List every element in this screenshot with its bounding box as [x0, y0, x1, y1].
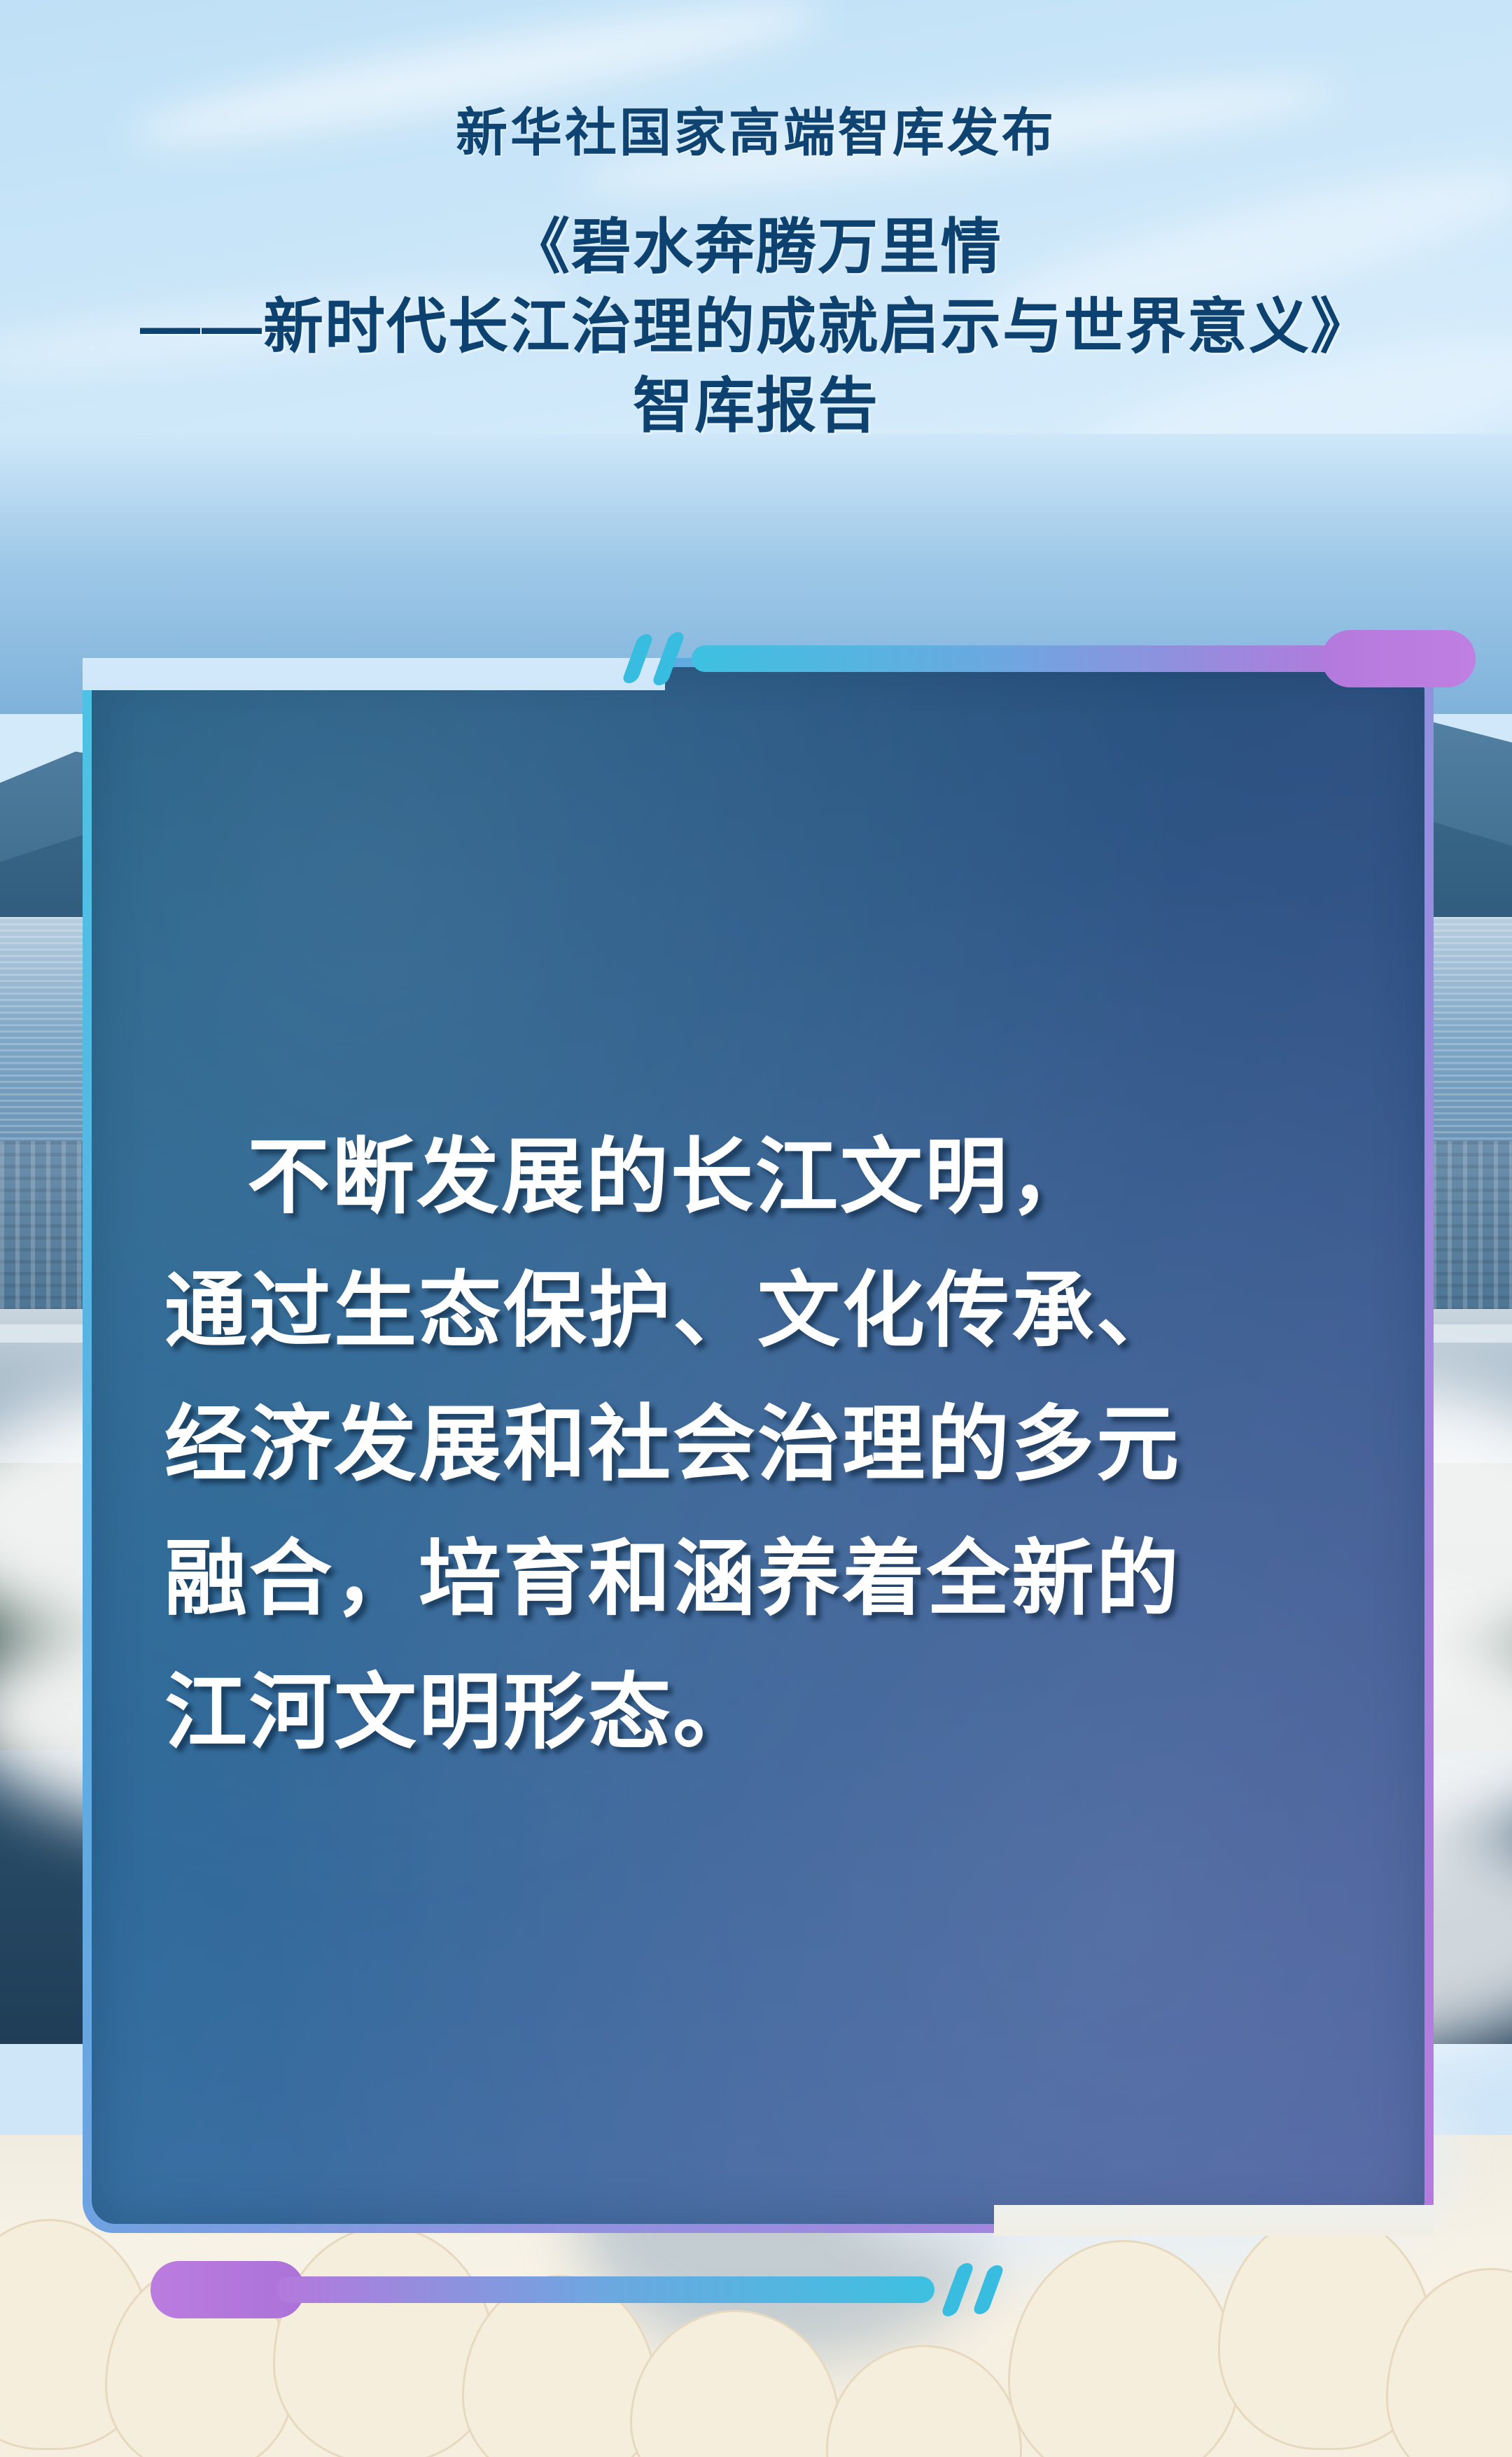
card-gradient-border: 不断发展的长江文明， 通过生态保护、文化传承、 经济发展和社会治理的多元 融合，… — [83, 658, 1434, 2233]
report-title: 《碧水奔腾万里情 ——新时代长江治理的成就启示与世界意义》 智库报告 — [0, 208, 1512, 447]
gradient-rod — [276, 2276, 934, 2303]
quote-card: 不断发展的长江文明， 通过生态保护、文化传承、 经济发展和社会治理的多元 融合，… — [83, 658, 1434, 2233]
quote-text-block: 不断发展的长江文明， 通过生态保护、文化传承、 经济发展和社会治理的多元 融合，… — [92, 667, 1424, 2224]
title-line-1: 《碧水奔腾万里情 — [0, 208, 1512, 288]
title-line-2: ——新时代长江治理的成就启示与世界意义》 — [0, 288, 1512, 367]
publisher-kicker: 新华社国家高端智库发布 — [0, 91, 1512, 166]
quote-line-2: 通过生态保护、文化传承、 — [164, 1245, 1352, 1378]
card-surface: 不断发展的长江文明， 通过生态保护、文化传承、 经济发展和社会治理的多元 融合，… — [92, 667, 1424, 2224]
gradient-rod — [692, 645, 1350, 672]
poster-header: 新华社国家高端智库发布 《碧水奔腾万里情 ——新时代长江治理的成就启示与世界意义… — [0, 0, 1512, 447]
quote-line-4: 融合，培育和涵养着全新的 — [164, 1513, 1352, 1646]
slash-dash-icon — [940, 2263, 975, 2316]
cloud-blob — [826, 2345, 1022, 2457]
card-bottom-step-notch — [994, 2205, 1434, 2236]
quote-line-3: 经济发展和社会治理的多元 — [164, 1378, 1352, 1512]
slash-dash-icon — [651, 632, 686, 685]
quote-line-5: 江河文明形态。 — [164, 1646, 1352, 1780]
bottom-decorative-bar — [150, 2261, 996, 2318]
title-line-3: 智库报告 — [0, 367, 1512, 447]
card-top-step-notch — [83, 658, 665, 690]
rod-end-cap — [1322, 630, 1476, 687]
quote-line-1: 不断发展的长江文明， — [164, 1111, 1352, 1245]
poster-root: 新华社国家高端智库发布 《碧水奔腾万里情 ——新时代长江治理的成就启示与世界意义… — [0, 0, 1512, 2457]
top-decorative-bar — [630, 630, 1476, 687]
